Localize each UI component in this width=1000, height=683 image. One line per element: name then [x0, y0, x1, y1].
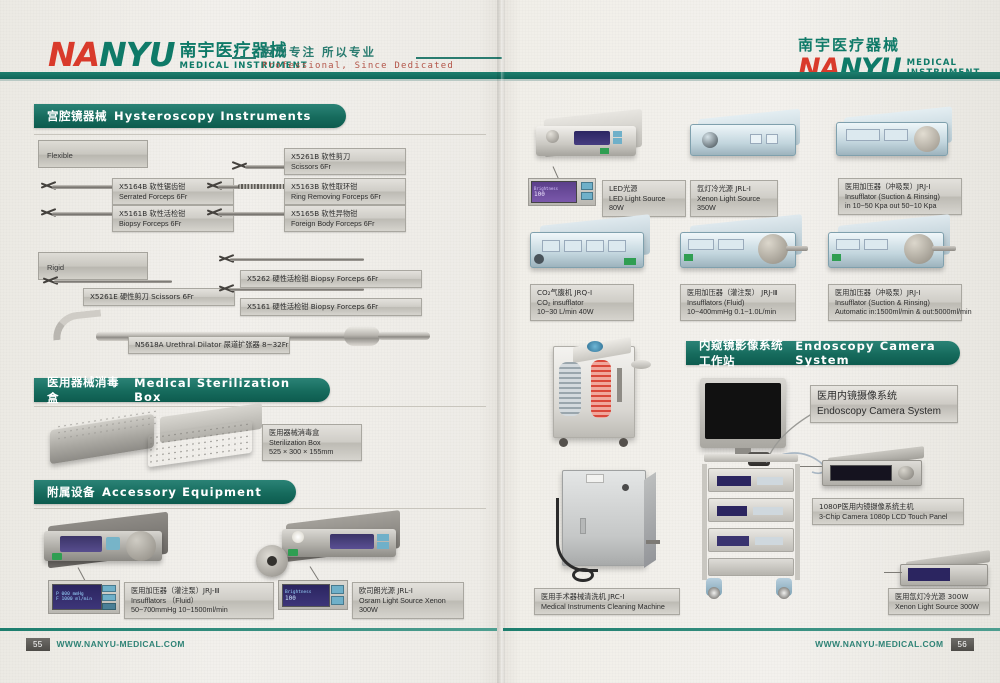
caption-en: Biopsy Forceps 6Fr: [119, 219, 227, 229]
footer-url-left[interactable]: WWW.NANYU-MEDICAL.COM: [57, 639, 185, 649]
caption-3chip-camera: 1080P医用内镜摄像系统主机 3-Chip Camera 1080p LCD …: [812, 498, 964, 525]
section-underline-1: [34, 134, 486, 135]
caption-cn: 医用加压器（冲吸泵）JRJ-Ⅰ: [835, 288, 955, 298]
section-title-cn: 附属设备: [47, 484, 95, 500]
caption-en: Serrated Forceps 6Fr: [119, 192, 227, 202]
caption-cn: X5261B 软性剪刀: [291, 152, 399, 162]
caption-led-light-source: LED光源 LED Light Source 80W: [602, 180, 686, 217]
section-title-en: Medical Sterilization Box: [134, 376, 314, 404]
page-gutter: [497, 0, 505, 683]
caption-co2-insufflator: CO₂气腹机 JRQ-Ⅰ CO₂ insufflator 10~30 L/min…: [530, 284, 634, 321]
display-flow: F 1000 ml/min: [56, 597, 101, 602]
device-insufflator-suction-1: [834, 110, 960, 168]
caption-cleaning-machine: 医用手术器械清洗机 JRC-Ⅰ Medical Instruments Clea…: [534, 588, 680, 615]
device-xenon-light-source: [688, 112, 806, 168]
panel-button-up[interactable]: [581, 182, 593, 190]
leader-line-3chip: [800, 466, 822, 467]
caption-insufflator-suction-2: 医用加压器（冲吸泵）JRJ-Ⅰ Insufflator (Suction & R…: [828, 284, 962, 321]
device-insufflator-fluid: [678, 218, 810, 280]
caption-en: Xenon Light Source 300W: [895, 602, 983, 612]
light-guide-adapter: [256, 545, 288, 577]
caption-cn: 医用氙灯冷光源 300W: [895, 592, 983, 602]
brand-name-cn-right: 南宇医疗器械: [798, 34, 900, 55]
device-insufflator-pump: [40, 513, 176, 575]
instrument-caption-scissors: X5261B 软性剪刀 Scissors 6Fr: [284, 148, 406, 175]
instrument-shaft-x5261e: [54, 280, 172, 283]
instrument-caption-dilator: N5618A Urethral Dilator 尿道扩张器 8~32Fr: [128, 336, 290, 354]
caption-spec: 300W: [359, 605, 457, 615]
caption-xenon-300w: 医用氙灯冷光源 300W Xenon Light Source 300W: [888, 588, 990, 615]
section-title-en: Endoscopy Camera System: [795, 339, 944, 367]
caption-spec: 350W: [697, 203, 771, 213]
device-osram-light-source: [278, 513, 408, 571]
caption-en: Medical Instruments Cleaning Machine: [541, 602, 673, 612]
sterilization-box-caption: 医用器械消毒盒 Sterilization Box 525 × 300 × 15…: [262, 424, 362, 461]
caption-cn: 医用加压器（冲吸泵）JRJ-Ⅰ: [845, 182, 955, 192]
section-title-sterilization: 医用器械消毒盒 Medical Sterilization Box: [34, 378, 330, 402]
cart-shelf-device-3: [708, 528, 794, 552]
tagline-dash-left: [232, 57, 256, 59]
panel-button-up[interactable]: [331, 585, 344, 594]
device-cleaning-machine-upper: [545, 340, 651, 462]
group-label-flexible: Flexible: [38, 140, 148, 168]
caption-en: LED Light Source: [609, 194, 679, 204]
catalog-spread: NANYU 南宇医疗器械 MEDICAL INSTRUMENT 因为专注 所以专…: [0, 0, 1000, 683]
group-label-rigid-text: Rigid: [47, 263, 64, 272]
caption-spec: 10~400mmHg 0.1~1.0L/min: [687, 307, 789, 317]
display-led-value: 100: [534, 191, 576, 198]
caption-osram-light: 欧司朗光源 JRL-Ⅰ Osram Light Source Xenon 300…: [352, 582, 464, 619]
osram-display-panel: Brightness 100: [278, 580, 348, 610]
panel-button-down[interactable]: [102, 594, 116, 601]
instrument-caption-x5262: X5262 硬性活检钳 Biopsy Forceps 6Fr: [240, 270, 422, 288]
caption-cn: 氙灯冷光源 JRL-Ⅰ: [697, 184, 771, 194]
instrument-shaft-x5161: [230, 288, 364, 291]
section-underline-3: [34, 508, 486, 509]
caption-cn: N5618A Urethral Dilator 尿道扩张器 8~32Fr: [135, 340, 283, 350]
section-title-endoscopy-camera: 内窥镜影像系统工作站 Endoscopy Camera System: [686, 341, 960, 365]
caption-spec: Automatic in:1500ml/min & out:5000ml/min: [835, 307, 955, 317]
caption-endoscopy-camera-system: 医用内镜摄像系统 Endoscopy Camera System: [810, 385, 958, 423]
caption-cn: X5261E 硬性剪刀 Scissors 6Fr: [90, 292, 228, 302]
section-title-en: Accessory Equipment: [102, 485, 262, 499]
cart-shelf-base: [708, 558, 794, 576]
caption-cn: 医用器械消毒盒: [269, 428, 355, 438]
led-display-panel: Brightness 100: [528, 178, 596, 206]
panel-button-up[interactable]: [102, 585, 116, 592]
instrument-caption-x5261e: X5261E 硬性剪刀 Scissors 6Fr: [83, 288, 235, 306]
caption-en: Sterilization Box: [269, 438, 355, 448]
instrument-caption-ring: X5163B 软性取环钳 Ring Removing Forceps 6Fr: [284, 178, 406, 205]
footer-left: 55 WWW.NANYU-MEDICAL.COM: [26, 636, 185, 652]
panel-button-down[interactable]: [331, 596, 344, 605]
caption-spec: in 10~50 Kpa out 50~10 Kpa: [845, 201, 955, 211]
device-insufflator-suction-2: [826, 218, 960, 280]
caption-en: 3-Chip Camera 1080p LCD Touch Panel: [819, 512, 957, 522]
caption-spec: 10~30 L/min 40W: [537, 307, 627, 317]
caption-xenon-light-source: 氙灯冷光源 JRL-Ⅰ Xenon Light Source 350W: [690, 180, 778, 217]
caption-spec: 525 × 300 × 155mm: [269, 447, 355, 457]
caption-cn: LED光源: [609, 184, 679, 194]
caption-insufflator-fluid: 医用加压器（灌注泵）JRJ-Ⅲ Insufflators （Fluid） 50~…: [124, 582, 274, 619]
caption-en: Insufflator (Suction & Rinsing): [835, 298, 955, 308]
device-cleaning-machine-lower: [552, 462, 662, 584]
instrument-caption-foreign: X5165B 软性异物钳 Foreign Body Forceps 6Fr: [284, 205, 406, 232]
insufflator-display-panel: P 000 mmHg F 1000 ml/min: [48, 580, 120, 614]
instrument-shaft-x5262: [230, 258, 364, 261]
section-title-accessory: 附属设备 Accessory Equipment: [34, 480, 296, 504]
section-title-cn: 医用器械消毒盒: [47, 374, 127, 406]
caption-en: Osram Light Source Xenon: [359, 596, 457, 606]
caption-cn: 1080P医用内镜摄像系统主机: [819, 502, 957, 512]
caption-cn: 医用手术器械清洗机 JRC-Ⅰ: [541, 592, 673, 602]
device-led-light-source: [534, 112, 646, 170]
caption-en: Insufflators （Fluid）: [131, 596, 267, 606]
caption-en: CO₂ insufflator: [537, 298, 627, 308]
section-title-cn: 内窥镜影像系统工作站: [699, 337, 788, 369]
caption-en: Insufflators (Fluid): [687, 298, 789, 308]
device-3chip-camera: [820, 452, 932, 492]
display-brightness-value: 100: [285, 595, 329, 602]
caption-cn: 欧司朗光源 JRL-Ⅰ: [359, 586, 457, 596]
panel-button-down[interactable]: [581, 192, 593, 200]
leader-line-xenon300: [884, 572, 902, 573]
device-co2-insufflator: [528, 218, 658, 280]
group-label-flexible-text: Flexible: [47, 151, 73, 160]
caption-en: Ring Removing Forceps 6Fr: [291, 192, 399, 202]
caption-cn: X5262 硬性活检钳 Biopsy Forceps 6Fr: [247, 274, 415, 284]
caption-spec: 80W: [609, 203, 679, 213]
brand-wordmark: NANYU: [48, 38, 175, 71]
caption-cn: 医用加压器（灌注泵） JRJ-Ⅲ: [687, 288, 789, 298]
caption-cn: CO₂气腹机 JRQ-Ⅰ: [537, 288, 627, 298]
section-title-en: Hysteroscopy Instruments: [114, 109, 312, 123]
cart-caster-right: [776, 578, 792, 596]
cart-shelf-device-2: [708, 498, 794, 522]
page-number-left: 55: [26, 638, 50, 651]
caption-cn: 医用加压器（灌注泵）JRJ-Ⅲ: [131, 586, 267, 596]
tagline-en: Professional, Since Dedicated: [262, 61, 492, 71]
section-title-hysteroscopy: 宫腔镜器械 Hysteroscopy Instruments: [34, 104, 346, 128]
footer-right: WWW.NANYU-MEDICAL.COM 56: [815, 636, 974, 652]
device-xenon-300w: [900, 556, 996, 590]
endoscopy-cart: [700, 450, 802, 600]
caption-en: Insufflator (Suction & Rinsing): [845, 192, 955, 202]
page-number-right: 56: [951, 638, 975, 651]
caption-cn: 医用内镜摄像系统: [817, 389, 951, 404]
caption-en: Xenon Light Source: [697, 194, 771, 204]
caption-insufflator-fluid-right: 医用加压器（灌注泵） JRJ-Ⅲ Insufflators (Fluid) 10…: [680, 284, 796, 321]
sterilization-box-open: [148, 408, 270, 466]
footer-bar-left: [0, 628, 497, 631]
caption-en: Scissors 6Fr: [291, 162, 399, 172]
cart-shelf-device-1: [708, 468, 794, 492]
caption-insufflator-suction-1: 医用加压器（冲吸泵）JRJ-Ⅰ Insufflator (Suction & R…: [838, 178, 962, 215]
footer-url-right[interactable]: WWW.NANYU-MEDICAL.COM: [815, 639, 943, 649]
section-title-cn: 宫腔镜器械: [47, 108, 107, 124]
caption-en: Endoscopy Camera System: [817, 404, 951, 419]
panel-button-set[interactable]: [102, 603, 116, 610]
tagline-dash-right: [416, 57, 502, 59]
caption-spec: 50~700mmHg 10~1500ml/min: [131, 605, 267, 615]
caption-en: Foreign Body Forceps 6Fr: [291, 219, 399, 229]
caption-cn: X5165B 软性异物钳: [291, 209, 399, 219]
footer-bar-right: [503, 628, 1000, 631]
cart-caster-left: [706, 578, 722, 596]
caption-cn: X5163B 软性取环钳: [291, 182, 399, 192]
